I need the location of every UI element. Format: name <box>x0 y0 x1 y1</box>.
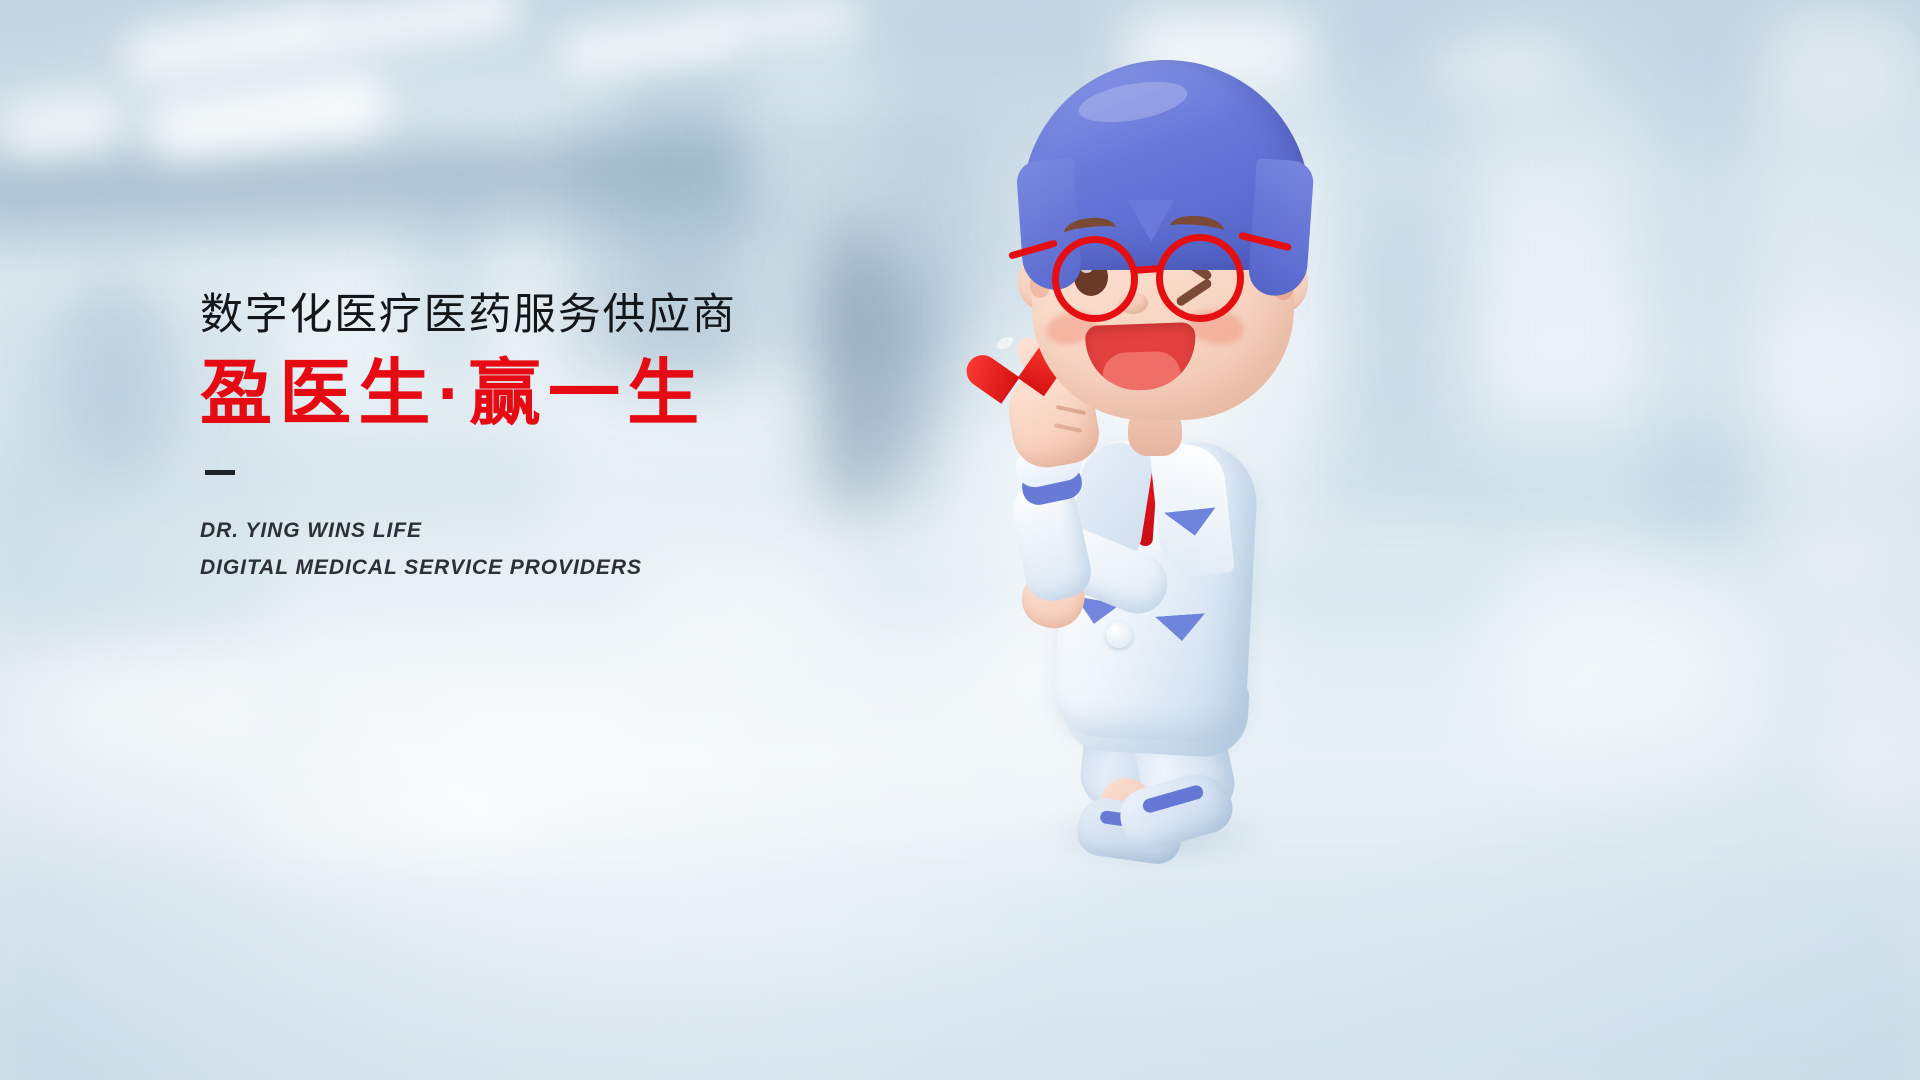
glasses-lens-left <box>1052 236 1138 322</box>
mascot-coat-button <box>1106 622 1132 648</box>
hero-banner: 数字化医疗医药服务供应商 盈医生·赢一生 DR. YING WINS LIFE … <box>0 0 1920 1080</box>
glasses-lens-right <box>1156 234 1244 322</box>
mascot-tongue <box>1102 351 1181 392</box>
hero-subtitle-line-1: DR. YING WINS LIFE <box>200 513 960 549</box>
hero-divider-rule <box>205 470 235 475</box>
hero-headline: 数字化医疗医药服务供应商 <box>200 292 960 339</box>
hero-subtitle: DR. YING WINS LIFE DIGITAL MEDICAL SERVI… <box>200 513 960 585</box>
hero-subtitle-line-2: DIGITAL MEDICAL SERVICE PROVIDERS <box>200 550 960 586</box>
hero-title: 盈医生·赢一生 <box>200 355 960 434</box>
doctor-mascot-illustration <box>960 40 1380 860</box>
hero-copy-block: 数字化医疗医药服务供应商 盈医生·赢一生 DR. YING WINS LIFE … <box>200 292 960 586</box>
